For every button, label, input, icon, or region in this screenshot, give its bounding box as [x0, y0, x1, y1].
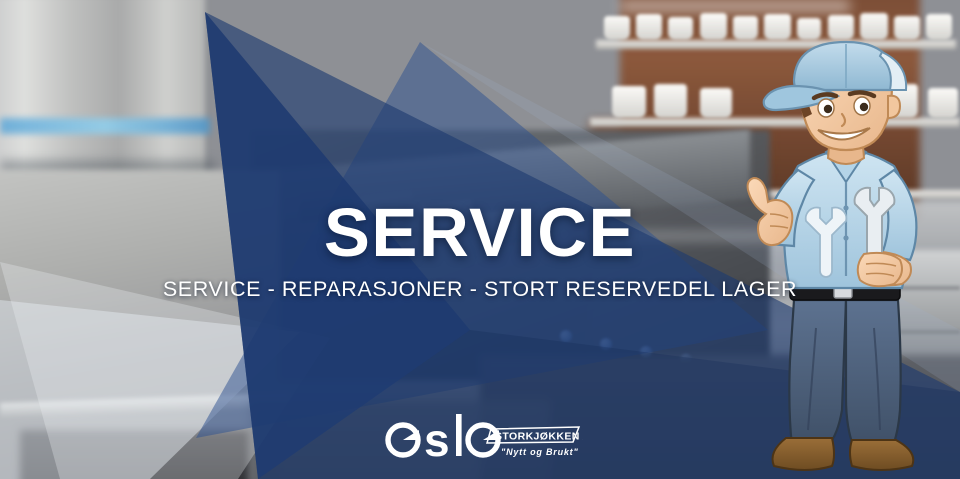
- page-title: SERVICE: [0, 198, 960, 267]
- mascot-left-boot: [773, 438, 835, 470]
- mascot-left-leg: [789, 300, 846, 446]
- logo-company-name: STORKJØKKEN AS: [495, 431, 583, 443]
- logo-letter-s: s: [424, 414, 450, 466]
- mascot-ear: [888, 96, 900, 118]
- logo-tagline: "Nytt og Brukt": [501, 447, 579, 457]
- page-subtitle: SERVICE - REPARASJONER - STORT RESERVEDE…: [0, 276, 960, 302]
- logo-letter-l: [456, 414, 462, 456]
- mascot-pupil-right: [860, 103, 868, 111]
- logo-notch-first: [403, 430, 419, 440]
- mascot-right-leg: [846, 300, 901, 448]
- mascot-pupil-left: [824, 105, 832, 113]
- service-banner: SERVICE SERVICE - REPARASJONER - STORT R…: [0, 0, 960, 479]
- mascot-cap: [794, 42, 896, 90]
- mascot-right-boot: [850, 440, 913, 470]
- company-logo[interactable]: s STORKJØKKEN AS "Nytt og Brukt": [383, 412, 583, 470]
